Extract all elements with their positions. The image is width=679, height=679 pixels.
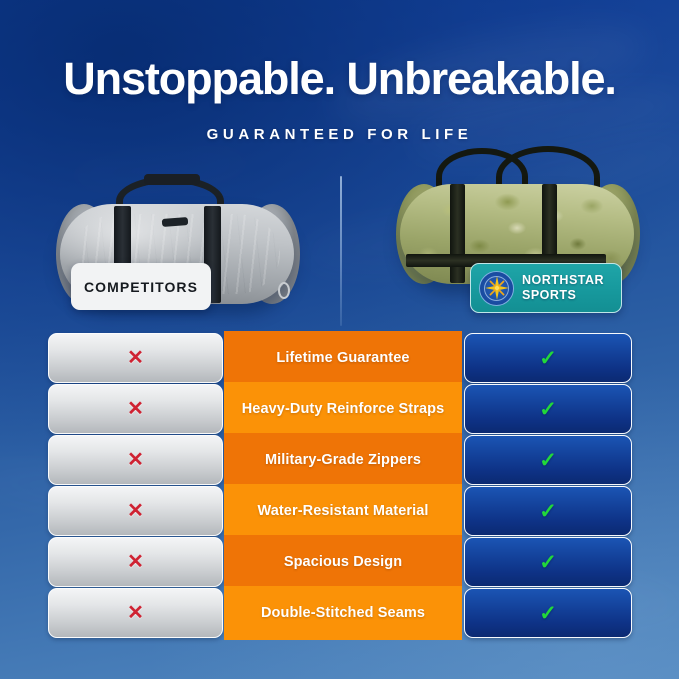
brand-cell: ✓ [464,486,632,536]
compass-star-icon [479,271,514,306]
table-row: ✕✓Spacious Design [0,537,679,587]
bag-clip [278,282,290,299]
competitors-label: COMPETITORS [71,263,211,310]
bag-handle-grip [144,174,200,185]
brand-cell: ✓ [464,588,632,638]
check-icon: ✓ [539,501,557,522]
page-title: Unstoppable. Unbreakable. [0,55,679,102]
competitor-cell: ✕ [48,486,223,536]
competitor-cell: ✕ [48,435,223,485]
cross-icon: ✕ [127,603,144,623]
promo-graphic: Unstoppable. Unbreakable. GUARANTEED FOR… [0,0,679,679]
cross-icon: ✕ [127,399,144,419]
table-row: ✕✓Heavy-Duty Reinforce Straps [0,384,679,434]
brand-name-line1: NORTHSTAR [522,273,604,288]
page-subtitle: GUARANTEED FOR LIFE [0,126,679,143]
feature-label: Lifetime Guarantee [224,331,462,385]
cross-icon: ✕ [127,450,144,470]
brand-badge: NORTHSTAR SPORTS [470,263,622,313]
table-row: ✕✓Water-Resistant Material [0,486,679,536]
brand-cell: ✓ [464,435,632,485]
brand-name-line2: SPORTS [522,288,604,303]
feature-label: Heavy-Duty Reinforce Straps [224,382,462,436]
competitor-cell: ✕ [48,537,223,587]
cross-icon: ✕ [127,348,144,368]
competitor-cell: ✕ [48,333,223,383]
feature-label: Spacious Design [224,535,462,589]
logo-ring [484,276,509,301]
cross-icon: ✕ [127,501,144,521]
feature-label: Military-Grade Zippers [224,433,462,487]
check-icon: ✓ [539,603,557,624]
table-row: ✕✓Double-Stitched Seams [0,588,679,638]
cross-icon: ✕ [127,552,144,572]
table-row: ✕✓Lifetime Guarantee [0,333,679,383]
check-icon: ✓ [539,450,557,471]
competitor-cell: ✕ [48,384,223,434]
column-divider [340,176,342,326]
check-icon: ✓ [539,399,557,420]
brand-cell: ✓ [464,333,632,383]
feature-label: Water-Resistant Material [224,484,462,538]
bag-strap [450,184,465,283]
competitor-cell: ✕ [48,588,223,638]
check-icon: ✓ [539,552,557,573]
brand-name: NORTHSTAR SPORTS [522,273,604,303]
brand-cell: ✓ [464,537,632,587]
table-row: ✕✓Military-Grade Zippers [0,435,679,485]
check-icon: ✓ [539,348,557,369]
comparison-table: ✕✓Lifetime Guarantee✕✓Heavy-Duty Reinfor… [0,333,679,639]
brand-cell: ✓ [464,384,632,434]
feature-label: Double-Stitched Seams [224,586,462,640]
